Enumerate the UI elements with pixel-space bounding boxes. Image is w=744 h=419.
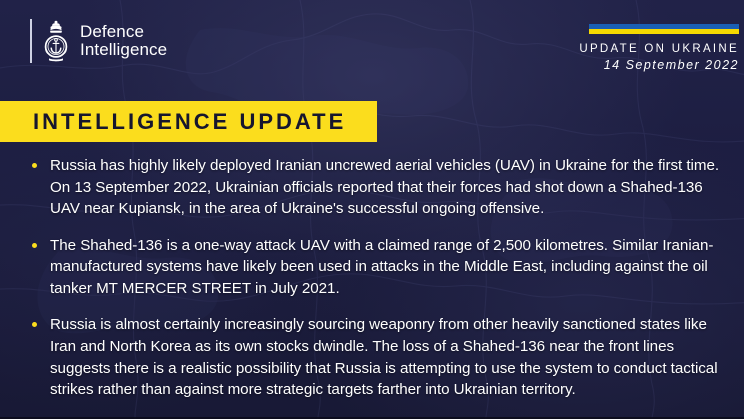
logo-divider (30, 19, 32, 63)
update-date: 14 September 2022 (514, 58, 739, 74)
list-item: Russia has highly likely deployed Irania… (0, 155, 726, 220)
bullet-text: The Shahed-136 is a one-way attack UAV w… (50, 235, 726, 300)
bullet-dot-icon (32, 322, 37, 327)
bullet-list: Russia has highly likely deployed Irania… (0, 155, 744, 401)
logo-line-intelligence: Intelligence (80, 41, 167, 59)
bullet-text: Russia is almost certainly increasingly … (50, 314, 726, 400)
list-item: Russia is almost certainly increasingly … (0, 314, 726, 400)
ukraine-flag-icon (589, 24, 739, 34)
bullet-dot-icon (32, 243, 37, 248)
bullet-dot-icon (32, 163, 37, 168)
intelligence-update-slide: Defence Intelligence UPDATE ON UKRAINE 1… (0, 0, 744, 419)
intelligence-update-banner: INTELLIGENCE UPDATE (0, 101, 377, 142)
list-item: The Shahed-136 is a one-way attack UAV w… (0, 235, 726, 300)
royal-crest-icon (41, 19, 71, 63)
logo-line-defence: Defence (80, 23, 167, 41)
update-label: UPDATE ON UKRAINE (514, 43, 739, 57)
defence-intelligence-logo: Defence Intelligence (30, 19, 167, 63)
page-header: Defence Intelligence UPDATE ON UKRAINE 1… (0, 0, 744, 96)
header-right-block: UPDATE ON UKRAINE 14 September 2022 (514, 24, 739, 73)
bullet-text: Russia has highly likely deployed Irania… (50, 155, 726, 220)
banner-title: INTELLIGENCE UPDATE (0, 109, 346, 135)
logo-wordmark: Defence Intelligence (80, 23, 167, 60)
